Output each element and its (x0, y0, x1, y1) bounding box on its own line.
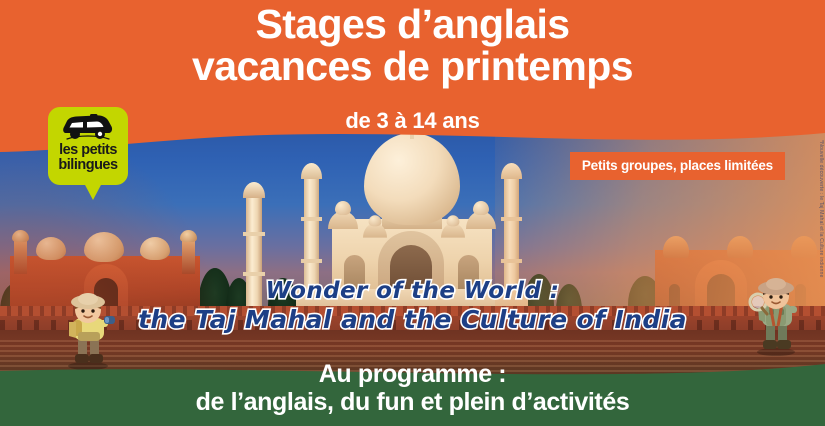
logo-wordmark: les petits bilingues (48, 143, 128, 173)
title-line-1: Stages d’anglais (256, 1, 570, 47)
brand-logo[interactable]: les petits bilingues (48, 107, 128, 185)
title-line-2: vacances de printemps (0, 46, 825, 88)
car-icon (61, 113, 115, 141)
photo-credit: *Nouvelle découverte : le Taj Mahal et l… (818, 140, 824, 278)
logo-bubble-tail (84, 183, 102, 200)
promo-banner: Stages d’anglais vacances de printemps d… (0, 0, 825, 426)
footer-message: Au programme : de l’anglais, du fun et p… (0, 360, 825, 416)
footer-line-1: Au programme : (0, 360, 825, 388)
page-title: Stages d’anglais vacances de printemps (0, 4, 825, 88)
logo-line-2: bilingues (48, 158, 128, 173)
explorer-kid-magnifier (740, 276, 812, 356)
status-badge: Petits groupes, places limitées (570, 152, 785, 180)
logo-line-1: les petits (48, 143, 128, 158)
footer-line-2: de l’anglais, du fun et plein d’activité… (0, 388, 825, 416)
footer-banner: Au programme : de l’anglais, du fun et p… (0, 354, 825, 426)
